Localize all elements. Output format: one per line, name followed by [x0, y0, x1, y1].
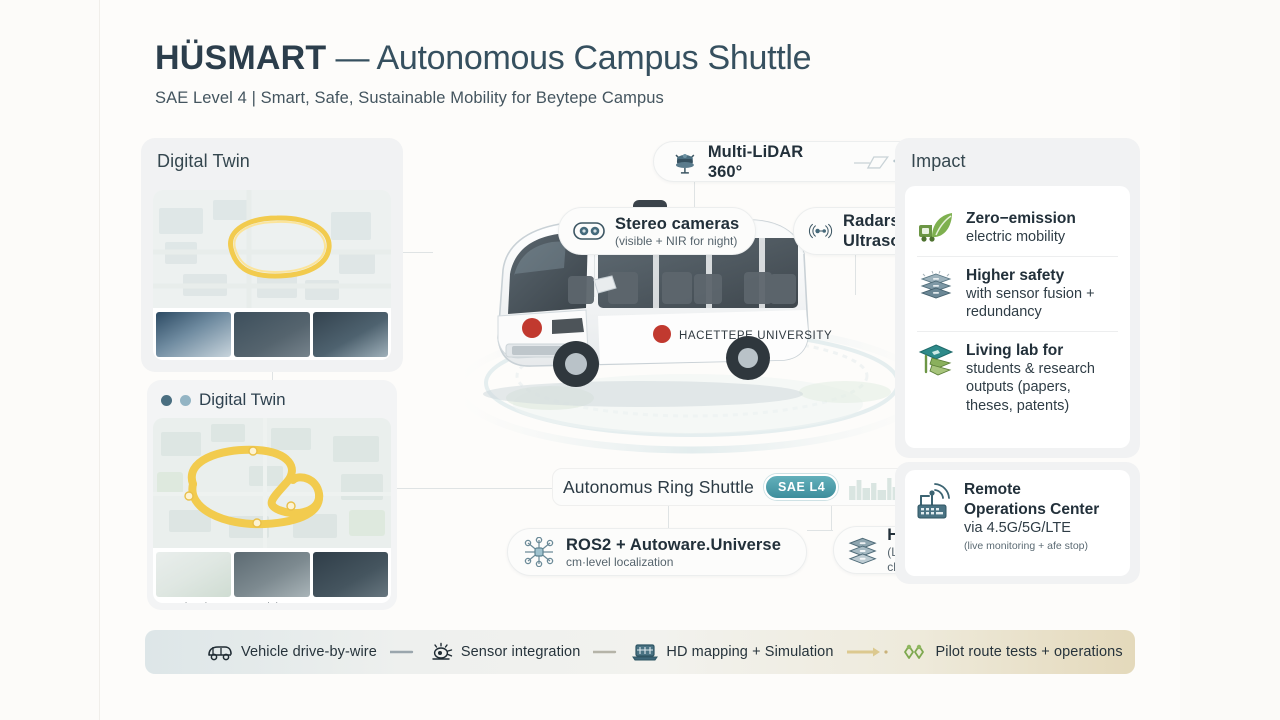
callout-stereo-cameras[interactable]: Stereo cameras (visible + NIR for night): [558, 207, 756, 255]
remote-operations-text: Remote Operations Center via 4.5G/5G/LTE…: [964, 480, 1120, 566]
scenario-caption: Night Operation: [234, 597, 309, 603]
impact-panel: Impact Zero−emission elec: [895, 138, 1140, 458]
scenario-caption: Sensor Fault Injection: [313, 357, 388, 360]
node-graph-icon: [522, 537, 556, 567]
brand-name: HÜSMART: [155, 39, 326, 77]
remote-ops-head-1: Remote: [964, 480, 1120, 500]
impact-list: Zero−emission electric mobility: [905, 186, 1130, 448]
poster-canvas: HÜSMART — Autonomous Campus Shuttle SAE …: [0, 0, 1280, 720]
caption-line-1: Sensor: [334, 601, 367, 603]
remote-ops-note: (live monitoring + afe stop): [964, 539, 1120, 553]
scenario-caption: Sensor Fault Injection: [313, 597, 388, 603]
digital-twin-top-title: Digital Twin: [141, 138, 403, 172]
timeline-step-label: HD mapping + Simulation: [666, 644, 833, 660]
timeline-arrow-1-icon: [390, 647, 416, 657]
sensor-icon: [429, 642, 453, 662]
title-suffix: — Autonomous Campus Shuttle: [326, 39, 811, 77]
impact-item-sub: with sensor fusion + redundancy: [966, 285, 1118, 322]
impact-item-head: Living lab for: [966, 341, 1118, 360]
digital-twin-bottom-title: Digital Twin: [199, 390, 286, 410]
callout-ros-title: ROS2 + Autoware.Universe: [566, 535, 781, 555]
caption-line-1: Pedestrian: [169, 601, 219, 603]
campus-route-svg: [153, 418, 391, 548]
connector-dt-link: [272, 372, 273, 380]
page-subtitle: SAE Level 4 | Smart, Safe, Sustainable M…: [155, 89, 1055, 108]
timeline-step-label: Pilot route tests + operations: [936, 644, 1123, 660]
remote-ops-sub: via 4.5G/5G/LTE: [964, 519, 1120, 537]
callout-lidar-title: Multi-LiDAR 360°: [708, 142, 842, 182]
timeline-step-label: Sensor integration: [461, 644, 581, 660]
layers-icon: [848, 535, 877, 565]
callout-multi-lidar[interactable]: Multi-LiDAR 360°: [653, 141, 936, 182]
leaf-bus-icon: [917, 209, 955, 247]
impact-item-head: Higher safety: [966, 266, 1118, 285]
graduation-layers-icon: [917, 341, 955, 416]
digital-twin-panel-bottom[interactable]: Digital Twin: [147, 380, 397, 610]
car-icon: [207, 643, 233, 661]
route-icon: [902, 642, 928, 662]
callout-stereo-sub: (visible + NIR for night): [615, 234, 739, 249]
callout-ros-sub: cm·level localization: [566, 555, 781, 570]
ring-shuttle-label: Autonomus Ring Shuttle: [563, 477, 754, 498]
laptop-map-icon: [632, 642, 658, 662]
impact-item-text: Living lab for students & research outpu…: [966, 341, 1118, 416]
status-dot-primary-icon: [161, 395, 172, 406]
page-title: HÜSMART — Autonomous Campus Shuttle: [155, 38, 1055, 78]
impact-item-zero-emission[interactable]: Zero−emission electric mobility: [917, 200, 1118, 256]
roadmap-timeline: Vehicle drive-by-wire Sensor integration: [145, 630, 1135, 674]
lidar-icon: [672, 149, 698, 175]
connector-dt-bottom: [397, 488, 552, 489]
impact-title: Impact: [895, 138, 1140, 172]
antenna-console-icon: [913, 480, 955, 566]
connector-hdmap-v: [831, 506, 832, 530]
timeline-arrow-3-icon: [847, 646, 889, 658]
remote-operations-card[interactable]: Remote Operations Center via 4.5G/5G/LTE…: [905, 470, 1130, 576]
status-dot-secondary-icon: [180, 395, 191, 406]
timeline-step-vehicle-drive-by-wire[interactable]: Vehicle drive-by-wire: [203, 643, 381, 661]
timeline-step-label: Vehicle drive-by-wire: [241, 644, 377, 660]
impact-item-living-lab[interactable]: Living lab for students & research outpu…: [917, 331, 1118, 425]
scenario-thumb-image: [313, 312, 388, 357]
connector-stereo: [594, 255, 595, 297]
remote-ops-head-2: Operations Center: [964, 500, 1120, 520]
sae-level-badge: SAE L4: [764, 474, 838, 500]
timeline-step-hd-mapping[interactable]: HD mapping + Simulation: [628, 642, 837, 662]
connector-dt-top: [403, 252, 433, 253]
connector-radar: [855, 255, 856, 295]
scenario-night-operation[interactable]: Night Operation: [234, 312, 309, 360]
camera-icon: [573, 221, 605, 241]
timeline-step-sensor-integration[interactable]: Sensor integration: [425, 642, 585, 662]
scenario-caption: Night Operation: [234, 357, 309, 360]
callout-stereo-title: Stereo cameras: [615, 214, 739, 234]
campus-route-map[interactable]: [153, 418, 391, 548]
scenario-caption: Pedestrian Crossing: [156, 357, 231, 360]
scenario-thumbnails-top: Pedestrian Crossing Night Operation: [153, 308, 391, 360]
impact-item-text: Zero−emission electric mobility: [966, 209, 1118, 247]
scenario-caption: Pedestrian Crossing: [156, 597, 231, 603]
impact-item-head: Zero−emission: [966, 209, 1118, 228]
radar-icon: [808, 220, 833, 242]
scenario-thumb-image: [234, 552, 309, 597]
left-margin-rail: [0, 0, 100, 720]
campus-map-preview[interactable]: [153, 190, 391, 308]
main-content-card: HÜSMART — Autonomous Campus Shuttle SAE …: [100, 0, 1180, 720]
scenario-thumbnails-bottom: Pedestrian Crossing Night Operation: [153, 548, 391, 603]
impact-item-text: Higher safety with sensor fusion + redun…: [966, 266, 1118, 322]
digital-twin-panel-top[interactable]: Digital Twin: [141, 138, 403, 372]
digital-twin-bottom-header: Digital Twin: [147, 380, 397, 410]
scenario-night-operation[interactable]: Night Operation: [234, 552, 309, 603]
scenario-thumb-image: [156, 312, 231, 357]
digital-twin-bottom-body: Pedestrian Crossing Night Operation: [153, 418, 391, 603]
remote-operations-panel: Remote Operations Center via 4.5G/5G/LTE…: [895, 462, 1140, 584]
page-header: HÜSMART — Autonomous Campus Shuttle SAE …: [155, 38, 1055, 108]
timeline-arrow-2-icon: [593, 647, 619, 657]
layers-safety-icon: [917, 266, 955, 322]
scenario-pedestrian-crossing[interactable]: Pedestrian Crossing: [156, 312, 231, 360]
caption-line-1: Night: [260, 601, 285, 603]
impact-item-higher-safety[interactable]: Higher safety with sensor fusion + redun…: [917, 256, 1118, 331]
campus-map-svg: [153, 190, 391, 308]
impact-item-sub: students & research outputs (papers, the…: [966, 360, 1118, 416]
impact-item-sub: electric mobility: [966, 228, 1118, 247]
callout-ros2-autoware[interactable]: ROS2 + Autoware.Universe cm·level locali…: [507, 528, 807, 576]
scenario-thumb-image: [313, 552, 388, 597]
scenario-thumb-image: [234, 312, 309, 357]
scenario-thumb-image: [156, 552, 231, 597]
timeline-step-pilot-route-tests[interactable]: Pilot route tests + operations: [898, 642, 1127, 662]
connector-hdmap-h: [807, 530, 833, 531]
scenario-sensor-fault-injection[interactable]: Sensor Fault Injection: [313, 552, 388, 603]
scenario-sensor-fault-injection[interactable]: Sensor Fault Injection: [313, 312, 388, 360]
digital-twin-top-body: Pedestrian Crossing Night Operation: [153, 190, 391, 360]
scenario-pedestrian-crossing[interactable]: Pedestrian Crossing: [156, 552, 231, 603]
